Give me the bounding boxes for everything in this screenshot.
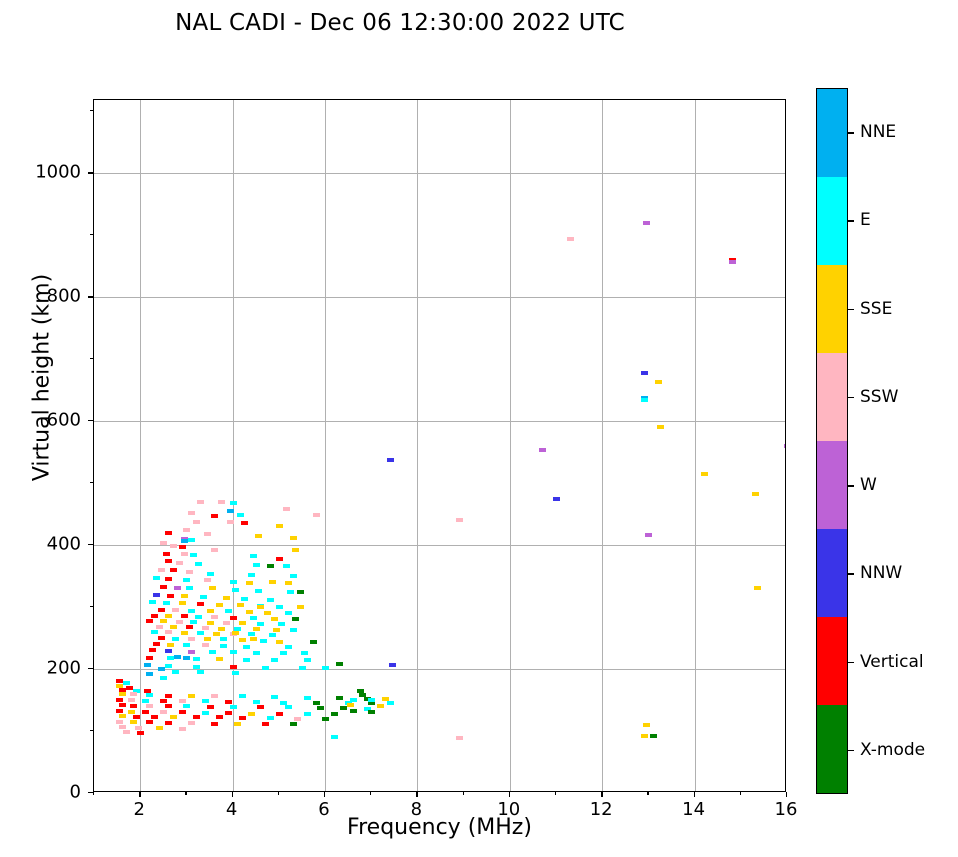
x-tick-minor (555, 792, 556, 795)
colorbar-segment-x-mode[interactable] (817, 705, 847, 793)
data-point (290, 574, 297, 578)
data-point (130, 692, 137, 696)
colorbar-label-nne: NNE (860, 122, 896, 142)
data-point (313, 513, 320, 517)
data-point (144, 663, 151, 667)
data-point (204, 532, 211, 536)
data-point (276, 524, 283, 528)
data-point (387, 458, 394, 462)
data-point (160, 585, 167, 589)
data-point (202, 699, 209, 703)
data-point (179, 699, 186, 703)
data-point (135, 726, 142, 730)
data-point (190, 553, 197, 557)
data-point (167, 643, 174, 647)
data-point (285, 581, 292, 585)
y-tick-minor (90, 358, 93, 359)
data-point (123, 681, 130, 685)
data-point (146, 693, 153, 697)
data-point (146, 656, 153, 660)
colorbar-label-ssw: SSW (860, 387, 898, 407)
gridline-vertical (510, 100, 511, 791)
data-point (174, 655, 181, 659)
data-point (223, 596, 230, 600)
data-point (216, 715, 223, 719)
data-point (156, 726, 163, 730)
data-point (142, 710, 149, 714)
data-point (232, 671, 239, 675)
data-point (250, 616, 257, 620)
data-point (276, 605, 283, 609)
colorbar-tick (848, 397, 854, 398)
data-point (181, 594, 188, 598)
x-tick-minor (93, 792, 94, 795)
data-point (204, 578, 211, 582)
colorbar-label-e: E (860, 210, 871, 230)
data-point (310, 640, 317, 644)
x-tick-minor (740, 792, 741, 795)
y-tick (88, 544, 93, 545)
data-point (137, 731, 144, 735)
colorbar-wrapper: NNEESSESSWWNNWVerticalX-mode (816, 88, 848, 794)
data-point (389, 663, 396, 667)
gridline-vertical (325, 100, 326, 791)
x-tick (694, 792, 695, 797)
data-point (200, 595, 207, 599)
data-point (276, 557, 283, 561)
data-point (276, 640, 283, 644)
data-point (255, 534, 262, 538)
y-tick (88, 296, 93, 297)
data-point (271, 658, 278, 662)
data-point (232, 588, 239, 592)
data-point (234, 722, 241, 726)
data-point (230, 650, 237, 654)
data-point (165, 694, 172, 698)
x-axis-title: Frequency (MHz) (93, 815, 786, 840)
data-point (165, 664, 172, 668)
data-point (188, 721, 195, 725)
data-point (290, 536, 297, 540)
y-tick (88, 668, 93, 669)
gridline-horizontal (94, 297, 785, 298)
data-point (151, 630, 158, 634)
data-point (116, 709, 123, 713)
x-tick (324, 792, 325, 797)
data-point (165, 577, 172, 581)
data-point (179, 545, 186, 549)
gridline-vertical (695, 100, 696, 791)
y-tick (88, 172, 93, 173)
data-point (181, 539, 188, 543)
gridline-horizontal (94, 545, 785, 546)
data-point (304, 712, 311, 716)
x-tick-minor (647, 792, 648, 795)
data-point (197, 500, 204, 504)
data-point (232, 631, 239, 635)
data-point (204, 637, 211, 641)
data-point (188, 637, 195, 641)
data-point (167, 656, 174, 660)
colorbar-segment-sse[interactable] (817, 265, 847, 353)
data-point (223, 621, 230, 625)
data-point (301, 651, 308, 655)
data-point (322, 717, 329, 721)
colorbar-tick (848, 662, 854, 663)
data-point (146, 619, 153, 623)
data-point (359, 693, 366, 697)
data-point (250, 637, 257, 641)
colorbar-segment-nne[interactable] (817, 89, 847, 177)
data-point (165, 649, 172, 653)
data-point (331, 735, 338, 739)
data-point (294, 717, 301, 721)
data-point (269, 633, 276, 637)
data-point (172, 637, 179, 641)
data-point (313, 701, 320, 705)
data-point (456, 518, 463, 522)
data-point (239, 694, 246, 698)
data-point (149, 648, 156, 652)
data-point (290, 722, 297, 726)
data-point (276, 712, 283, 716)
data-point (655, 380, 662, 384)
data-point (227, 509, 234, 513)
colorbar-label-nnw: NNW (860, 563, 902, 583)
gridline-vertical (140, 100, 141, 791)
y-tick-minor (90, 234, 93, 235)
gridline-vertical (602, 100, 603, 791)
data-point (167, 594, 174, 598)
data-point (188, 538, 195, 542)
data-point (119, 725, 126, 729)
data-point (257, 705, 264, 709)
data-point (377, 704, 384, 708)
data-point (170, 625, 177, 629)
colorbar-segment-nnw[interactable] (817, 529, 847, 617)
data-point (237, 513, 244, 517)
data-point (211, 694, 218, 698)
data-point (183, 643, 190, 647)
data-point (285, 645, 292, 649)
data-point (211, 615, 218, 619)
data-point (239, 638, 246, 642)
data-point (172, 608, 179, 612)
gridline-vertical (417, 100, 418, 791)
data-point (250, 554, 257, 558)
data-point (271, 617, 278, 621)
data-point (322, 666, 329, 670)
data-point (179, 727, 186, 731)
data-point (271, 695, 278, 699)
data-point (216, 603, 223, 607)
data-point (243, 658, 250, 662)
data-point (368, 698, 375, 702)
data-point (248, 632, 255, 636)
x-tick (601, 792, 602, 797)
colorbar (816, 88, 848, 794)
data-point (119, 703, 126, 707)
data-point (350, 698, 357, 702)
data-point (116, 720, 123, 724)
colorbar-tick (848, 750, 854, 751)
data-point (253, 651, 260, 655)
ionogram-plot-area (93, 99, 786, 792)
x-tick (139, 792, 140, 797)
data-point (216, 657, 223, 661)
data-point (241, 597, 248, 601)
x-tick-minor (278, 792, 279, 795)
data-point (257, 605, 264, 609)
x-tick (416, 792, 417, 797)
data-point (237, 603, 244, 607)
data-point (165, 721, 172, 725)
data-point (230, 616, 237, 620)
colorbar-label-w: W (860, 475, 877, 495)
data-point (183, 656, 190, 660)
data-point (158, 608, 165, 612)
data-point (181, 631, 188, 635)
data-point (645, 533, 652, 537)
data-point (304, 696, 311, 700)
data-point (280, 651, 287, 655)
data-point (119, 692, 126, 696)
data-point (299, 666, 306, 670)
data-point (197, 631, 204, 635)
data-point (163, 552, 170, 556)
data-point (128, 710, 135, 714)
data-point (285, 611, 292, 615)
colorbar-segment-vertical[interactable] (817, 617, 847, 705)
data-point (243, 645, 250, 649)
colorbar-tick (848, 485, 854, 486)
x-tick-minor (463, 792, 464, 795)
plot-wrapper: 24681012141602004006008001000 (93, 99, 786, 792)
data-point (239, 716, 246, 720)
data-point (202, 711, 209, 715)
data-point (220, 637, 227, 641)
data-point (176, 620, 183, 624)
data-point (160, 541, 167, 545)
data-point (218, 500, 225, 504)
colorbar-tick (848, 132, 854, 133)
data-point (146, 704, 153, 708)
data-point (160, 710, 167, 714)
data-point (456, 736, 463, 740)
data-point (257, 622, 264, 626)
data-point (273, 628, 280, 632)
data-point (165, 559, 172, 563)
data-point (188, 650, 195, 654)
data-point (225, 711, 232, 715)
data-point (230, 705, 237, 709)
data-point (248, 573, 255, 577)
data-point (641, 398, 648, 402)
colorbar-segment-w[interactable] (817, 441, 847, 529)
data-point (179, 710, 186, 714)
data-point (241, 521, 248, 525)
page-title: NAL CADI - Dec 06 12:30:00 2022 UTC (0, 10, 800, 36)
x-tick-minor (185, 792, 186, 795)
x-tick-minor (370, 792, 371, 795)
data-point (207, 621, 214, 625)
data-point (176, 561, 183, 565)
data-point (193, 520, 200, 524)
data-point (248, 712, 255, 716)
data-point (123, 730, 130, 734)
colorbar-segment-ssw[interactable] (817, 353, 847, 441)
data-point (153, 642, 160, 646)
data-point (133, 715, 140, 719)
data-point (287, 590, 294, 594)
data-point (331, 712, 338, 716)
data-point (283, 564, 290, 568)
data-point (170, 544, 177, 548)
colorbar-tick (848, 573, 854, 574)
data-point (170, 568, 177, 572)
data-point (246, 610, 253, 614)
data-point (160, 699, 167, 703)
x-tick (786, 792, 787, 797)
data-point (160, 619, 167, 623)
data-point (119, 714, 126, 718)
data-point (188, 694, 195, 698)
gridline-horizontal (94, 173, 785, 174)
colorbar-label-x-mode: X-mode (860, 740, 925, 760)
data-point (278, 622, 285, 626)
data-point (183, 704, 190, 708)
data-point (165, 704, 172, 708)
gridline-vertical (233, 100, 234, 791)
data-point (220, 644, 227, 648)
data-point (170, 715, 177, 719)
data-point (260, 639, 267, 643)
data-point (174, 586, 181, 590)
data-point (116, 698, 123, 702)
data-point (128, 698, 135, 702)
y-tick (88, 792, 93, 793)
data-point (267, 564, 274, 568)
data-point (350, 709, 357, 713)
y-tick-minor (90, 606, 93, 607)
data-point (641, 734, 648, 738)
data-point (149, 600, 156, 604)
data-point (553, 497, 560, 501)
data-point (209, 586, 216, 590)
data-point (188, 511, 195, 515)
data-point (297, 590, 304, 594)
data-point (165, 531, 172, 535)
y-tick (88, 420, 93, 421)
data-point (230, 580, 237, 584)
data-point (264, 611, 271, 615)
data-point (225, 609, 232, 613)
data-point (246, 581, 253, 585)
data-point (146, 672, 153, 676)
data-point (262, 666, 269, 670)
data-point (153, 593, 160, 597)
data-point (336, 696, 343, 700)
colorbar-label-sse: SSE (860, 299, 892, 319)
data-point (701, 472, 708, 476)
data-point (202, 643, 209, 647)
data-point (190, 620, 197, 624)
data-point (165, 614, 172, 618)
y-tick-label: 0 (70, 782, 81, 803)
data-point (193, 715, 200, 719)
data-point (183, 578, 190, 582)
data-point (239, 621, 246, 625)
data-point (752, 492, 759, 496)
data-point (207, 705, 214, 709)
data-point (539, 448, 546, 452)
colorbar-segment-e[interactable] (817, 177, 847, 265)
data-point (269, 580, 276, 584)
data-point (183, 528, 190, 532)
data-point (230, 665, 237, 669)
data-point (197, 670, 204, 674)
data-point (163, 601, 170, 605)
colorbar-label-vertical: Vertical (860, 652, 924, 672)
data-point (181, 614, 188, 618)
data-point (207, 609, 214, 613)
data-point (340, 706, 347, 710)
data-point (280, 701, 287, 705)
data-point (195, 562, 202, 566)
data-point (197, 602, 204, 606)
data-point (179, 601, 186, 605)
data-point (290, 628, 297, 632)
data-point (253, 563, 260, 567)
data-point (211, 548, 218, 552)
data-point (317, 706, 324, 710)
data-point (218, 627, 225, 631)
data-point (160, 676, 167, 680)
data-point (641, 371, 648, 375)
data-point (285, 705, 292, 709)
y-axis-title: Virtual height (km) (30, 68, 55, 688)
data-point (336, 662, 343, 666)
data-point (211, 514, 218, 518)
data-point (153, 576, 160, 580)
data-point (181, 552, 188, 556)
data-point (172, 670, 179, 674)
x-tick (509, 792, 510, 797)
data-point (158, 636, 165, 640)
data-point (643, 723, 650, 727)
data-point (292, 548, 299, 552)
data-point (156, 625, 163, 629)
data-point (267, 716, 274, 720)
data-point (209, 650, 216, 654)
data-point (283, 507, 290, 511)
data-point (207, 572, 214, 576)
data-point (729, 260, 736, 264)
data-point (230, 501, 237, 505)
y-tick-minor (90, 730, 93, 731)
colorbar-tick (848, 220, 854, 221)
data-point (253, 627, 260, 631)
y-tick-minor (90, 482, 93, 483)
data-point (567, 237, 574, 241)
data-point (193, 665, 200, 669)
data-point (368, 710, 375, 714)
data-point (151, 614, 158, 618)
data-point (186, 625, 193, 629)
data-point (297, 605, 304, 609)
data-point (267, 598, 274, 602)
data-point (643, 221, 650, 225)
